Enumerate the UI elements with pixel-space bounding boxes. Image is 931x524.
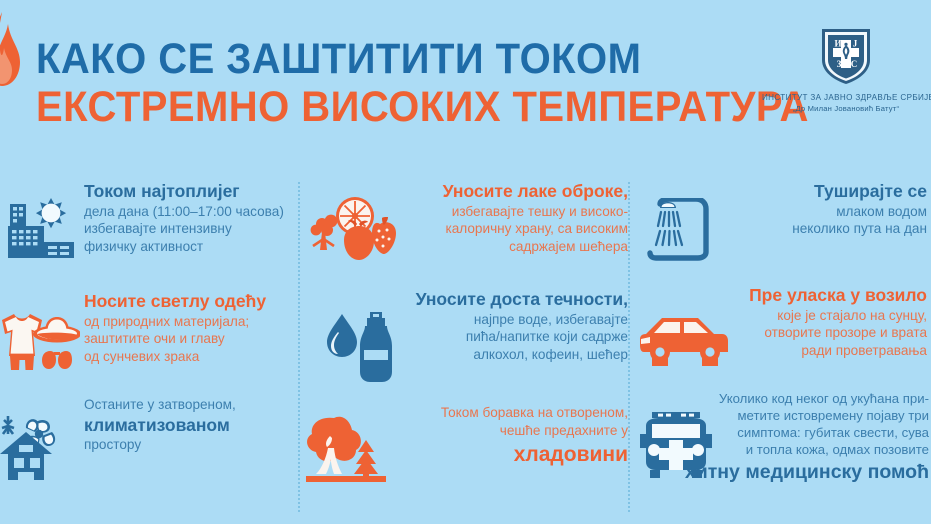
advice-body-line-2: метите истовремену појаву три <box>630 407 929 424</box>
poster-header: КАКО СЕ ЗАШТИТИТИ ТОКОМ ЕКСТРЕМНО ВИСОКИ… <box>0 0 931 168</box>
svg-text:И: И <box>834 39 841 49</box>
advice-body-line-2: избегавајте интензивну <box>84 220 298 238</box>
svg-text:С: С <box>851 59 858 69</box>
advice-text: Уколико код неког од укућана при- метите… <box>630 390 929 485</box>
advice-text: Останите у затвореном, климатизованом пр… <box>84 396 298 454</box>
advice-body-line-1: најпре воде, избегавајте <box>336 311 628 329</box>
house-fan-icon <box>0 414 80 489</box>
advice-body-line-4: и топла кожа, одмах позовите <box>630 441 929 458</box>
flame-icon <box>0 6 28 126</box>
advice-body-line-1: Уколико код неког од укућана при- <box>630 390 929 407</box>
poster-title: КАКО СЕ ЗАШТИТИТИ ТОКОМ ЕКСТРЕМНО ВИСОКИ… <box>36 38 867 130</box>
advice-body-line-1: млаком водом <box>630 203 927 221</box>
light-clothing-icon <box>0 308 80 383</box>
advice-text: Уносите лаке оброке, избегавајте тешку и… <box>336 180 628 256</box>
advice-body-line-2: заштитите очи и главу <box>84 330 298 348</box>
advice-body-line-2: отворите прозоре и врата <box>630 324 927 342</box>
advice-text: Туширајте се млаком водом неколико пута … <box>630 180 927 238</box>
advice-body-before: Останите у затвореном, <box>84 396 298 414</box>
advice-heading: хладовини <box>356 441 628 468</box>
advice-heading: Туширајте се <box>630 180 927 203</box>
institute-name-line-1: ИНСТИТУТ ЗА ЈАВНО ЗДРАВЉЕ СРБИЈЕ <box>762 93 930 102</box>
advice-heading: Током најтоплијег <box>84 180 298 203</box>
advice-heading: Уносите лаке оброке, <box>336 180 628 203</box>
advice-body-line-3: симптома: губитак свести, сува <box>630 424 929 441</box>
institute-crest-icon: И Ј З С <box>816 26 876 86</box>
advice-body-line-2: пића/напитке који садрже <box>336 328 628 346</box>
institute-logo: И Ј З С ИНСТИТУТ ЗА ЈАВНО ЗДРАВЉЕ СРБИЈЕ… <box>762 26 930 113</box>
advice-body-line-1: које је стајало на сунцу, <box>630 307 927 325</box>
advice-text: Пре уласка у возило које је стајало на с… <box>630 284 927 360</box>
advice-heading: Носите светлу одећу <box>84 290 298 313</box>
advice-heading: климатизованом <box>84 414 298 437</box>
column-divider-1 <box>298 182 300 512</box>
institute-name-line-2: „Др Милан Јовановић Батут“ <box>762 104 930 113</box>
advice-text: Носите светлу одећу од природних материј… <box>84 290 298 366</box>
advice-body-line-1: дела дана (11:00–17:00 часова) <box>84 203 298 221</box>
advice-body-line-3: садржајем шећера <box>336 238 628 256</box>
advice-heading: хитну медицинску помоћ <box>630 460 929 485</box>
advice-text: Током најтоплијег дела дана (11:00–17:00… <box>84 180 298 256</box>
title-line-2: ЕКСТРЕМНО ВИСОКИХ ТЕМПЕРАТУРА <box>36 86 809 130</box>
svg-text:З: З <box>837 59 842 69</box>
city-sun-icon <box>6 196 80 267</box>
advice-body-line-3: од сунчевих зрака <box>84 348 298 366</box>
advice-columns: Током најтоплијег дела дана (11:00–17:00… <box>0 168 931 524</box>
advice-body-after: простору <box>84 436 298 454</box>
advice-body-line-3: физичку активност <box>84 238 298 256</box>
advice-body-line-3: алкохол, кофеин, шећер <box>336 346 628 364</box>
advice-body-line-3: ради проветравања <box>630 342 927 360</box>
advice-body-line-2: калоричну храну, са високим <box>336 220 628 238</box>
advice-body-line-2: неколико пута на дан <box>630 220 927 238</box>
svg-text:Ј: Ј <box>853 39 858 49</box>
advice-text: Током боравка на отвореном, чешће предах… <box>356 404 628 469</box>
advice-heading: Уносите доста течности, <box>336 288 628 311</box>
advice-body-line-1: избегавајте тешку и високо- <box>336 203 628 221</box>
advice-body-line-2: чешће предахните у <box>356 422 628 440</box>
advice-text: Уносите доста течности, најпре воде, изб… <box>336 288 628 364</box>
advice-body-line-1: Током боравка на отвореном, <box>356 404 628 422</box>
title-line-1: КАКО СЕ ЗАШТИТИТИ ТОКОМ <box>36 38 809 82</box>
advice-body-line-1: од природних материјала; <box>84 313 298 331</box>
advice-heading: Пре уласка у возило <box>630 284 927 307</box>
infographic-poster: КАКО СЕ ЗАШТИТИТИ ТОКОМ ЕКСТРЕМНО ВИСОКИ… <box>0 0 931 524</box>
